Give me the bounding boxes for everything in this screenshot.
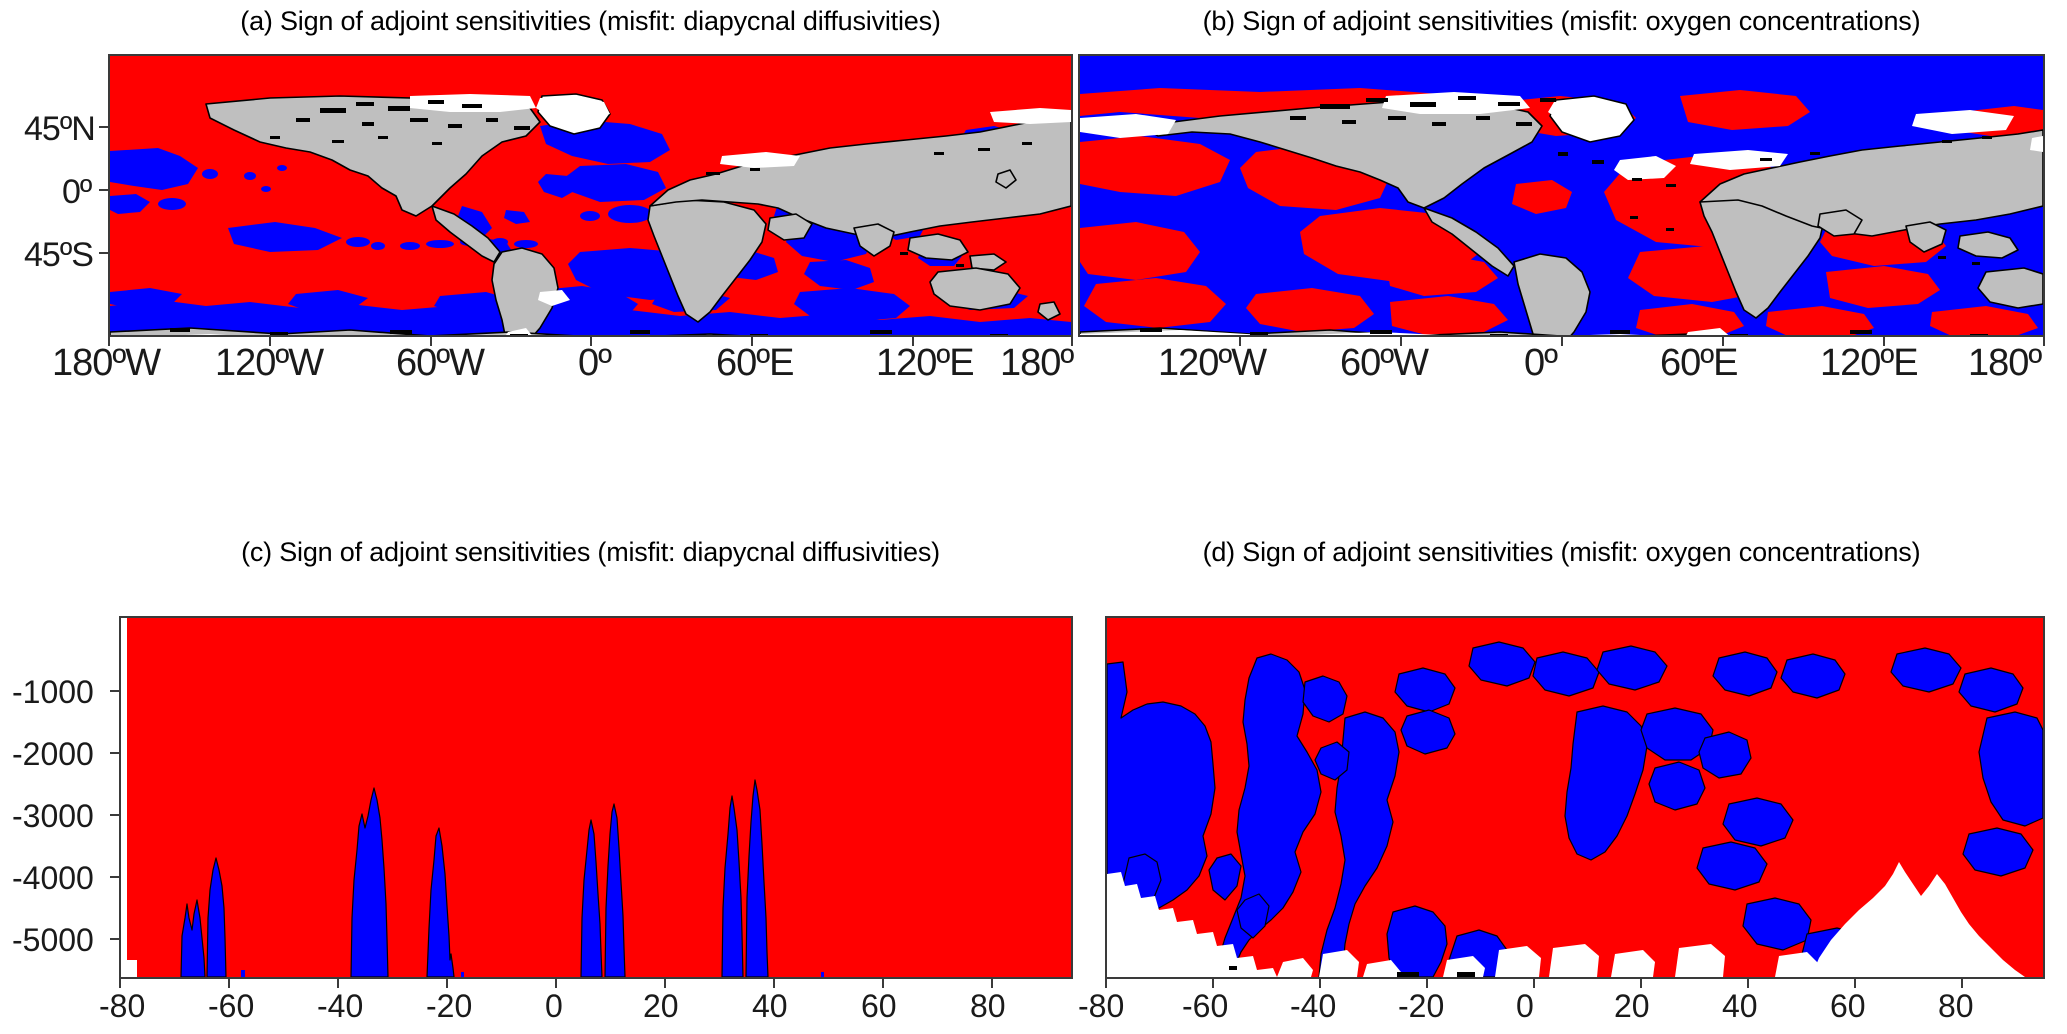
panel-a-ytick-mark <box>99 189 108 191</box>
panel-c-title: (c) Sign of adjoint sensitivities (misfi… <box>108 537 1073 568</box>
panel-c-xtick-mark <box>446 979 448 988</box>
panel-a-xtick-60e: 60ºE <box>716 342 794 385</box>
panel-b-xtick-mark <box>1561 337 1563 346</box>
panel-c-section-axes <box>119 616 1073 979</box>
panel-a-xtick-120w: 120ºW <box>215 342 323 385</box>
panel-d-xtick-mark <box>1854 979 1856 988</box>
panel-d-xtick-mark <box>1212 979 1214 988</box>
panel-b-map-svg <box>1080 56 2043 335</box>
panel-d-xtick-mark <box>1426 979 1428 988</box>
figure-root: (a) Sign of adjoint sensitivities (misfi… <box>0 0 2067 1034</box>
panel-a-xtick-180w: 180ºW <box>52 342 160 385</box>
panel-b-xtick-mark <box>1239 337 1241 346</box>
panel-a-xtick-mark <box>590 337 592 346</box>
panel-b-xtick-120w: 120ºW <box>1158 342 1266 385</box>
panel-c-xtick-0: 0 <box>545 988 563 1025</box>
panel-a-ytick-45s: 45ºS <box>24 236 93 275</box>
panel-b-xtick-60e: 60ºE <box>1660 342 1738 385</box>
panel-d-xtick--60: -60 <box>1182 988 1228 1025</box>
panel-d-section-svg <box>1107 618 2043 977</box>
panel-c-ytick-mark <box>110 814 119 816</box>
panel-b-xtick-0: 0º <box>1524 342 1557 385</box>
panel-a-xtick-mark <box>108 337 110 346</box>
panel-d-xtick-mark <box>1319 979 1321 988</box>
panel-b-xtick-180: 180º <box>1968 342 2041 385</box>
panel-c-xtick-mark <box>773 979 775 988</box>
panel-c-xtick-mark <box>555 979 557 988</box>
panel-a-xtick-mark <box>430 337 432 346</box>
panel-a-xtick-0: 0º <box>578 342 611 385</box>
panel-b-map-axes <box>1078 54 2045 337</box>
panel-c-ytick-mark <box>110 690 119 692</box>
panel-d-xtick-mark <box>1105 979 1107 988</box>
panel-b-xtick-mark <box>1400 337 1402 346</box>
panel-d-xtick-20: 20 <box>1614 988 1650 1025</box>
panel-b-title: (b) Sign of adjoint sensitivities (misfi… <box>1078 6 2045 37</box>
panel-c-xtick--20: -20 <box>426 988 472 1025</box>
panel-a-xtick-mark <box>269 337 271 346</box>
panel-d-xtick-80: 80 <box>1938 988 1974 1025</box>
panel-c-ytick-mark <box>110 752 119 754</box>
panel-b-xtick-60w: 60ºW <box>1340 342 1428 385</box>
panel-d-xtick-0: 0 <box>1516 988 1534 1025</box>
panel-c-ytick-3000: -3000 <box>12 798 94 835</box>
panel-c-xtick-mark <box>664 979 666 988</box>
panel-c-xtick-40: 40 <box>752 988 788 1025</box>
panel-c-xtick--40: -40 <box>317 988 363 1025</box>
panel-b-xtick-mark <box>1722 337 1724 346</box>
panel-c-ytick-2000: -2000 <box>12 736 94 773</box>
panel-d-xtick--80: -80 <box>1078 988 1124 1025</box>
panel-a-xtick-mark <box>1071 337 1073 346</box>
panel-c-xtick-80: 80 <box>970 988 1006 1025</box>
panel-c-xtick-mark <box>228 979 230 988</box>
panel-a-xtick-120e: 120ºE <box>876 342 974 385</box>
panel-d-xtick--40: -40 <box>1290 988 1336 1025</box>
panel-a-title: (a) Sign of adjoint sensitivities (misfi… <box>108 6 1073 37</box>
panel-c-xtick-mark <box>337 979 339 988</box>
panel-d-section-axes <box>1105 616 2045 979</box>
panel-d-xtick-mark <box>1533 979 1535 988</box>
panel-a-map-axes <box>108 54 1073 337</box>
panel-a-xtick-mark <box>751 337 753 346</box>
panel-a-ytick-mark <box>99 126 108 128</box>
panel-c-xtick-mark <box>882 979 884 988</box>
panel-c-ytick-1000: -1000 <box>12 674 94 711</box>
panel-d-xtick--20: -20 <box>1398 988 1444 1025</box>
panel-a-ytick-mark <box>99 252 108 254</box>
panel-a-xtick-60w: 60ºW <box>396 342 484 385</box>
panel-c-xtick-mark <box>991 979 993 988</box>
panel-d-xtick-60: 60 <box>1830 988 1866 1025</box>
panel-c-ytick-mark <box>110 938 119 940</box>
panel-a-ytick-0: 0º <box>62 173 91 212</box>
panel-a-ytick-45n: 45ºN <box>24 110 95 149</box>
panel-d-title: (d) Sign of adjoint sensitivities (misfi… <box>1078 537 2045 568</box>
panel-a-xtick-180: 180º <box>1000 342 1073 385</box>
panel-d-xtick-mark <box>1640 979 1642 988</box>
panel-b-xtick-mark <box>2043 337 2045 346</box>
panel-d-xtick-mark <box>1747 979 1749 988</box>
panel-d-xtick-40: 40 <box>1722 988 1758 1025</box>
panel-c-ytick-mark <box>110 876 119 878</box>
panel-b-xtick-mark <box>1883 337 1885 346</box>
panel-a-xtick-mark <box>912 337 914 346</box>
panel-d-xtick-mark <box>1961 979 1963 988</box>
panel-c-xtick-20: 20 <box>643 988 679 1025</box>
panel-c-xtick-mark <box>119 979 121 988</box>
panel-c-ytick-5000: -5000 <box>12 922 94 959</box>
panel-c-section-svg <box>121 618 1071 977</box>
panel-c-xtick-60: 60 <box>861 988 897 1025</box>
panel-c-xtick--80: -80 <box>99 988 145 1025</box>
panel-c-xtick--60: -60 <box>208 988 254 1025</box>
panel-b-xtick-120e: 120ºE <box>1820 342 1918 385</box>
panel-c-ytick-4000: -4000 <box>12 860 94 897</box>
panel-a-map-svg <box>110 56 1071 335</box>
